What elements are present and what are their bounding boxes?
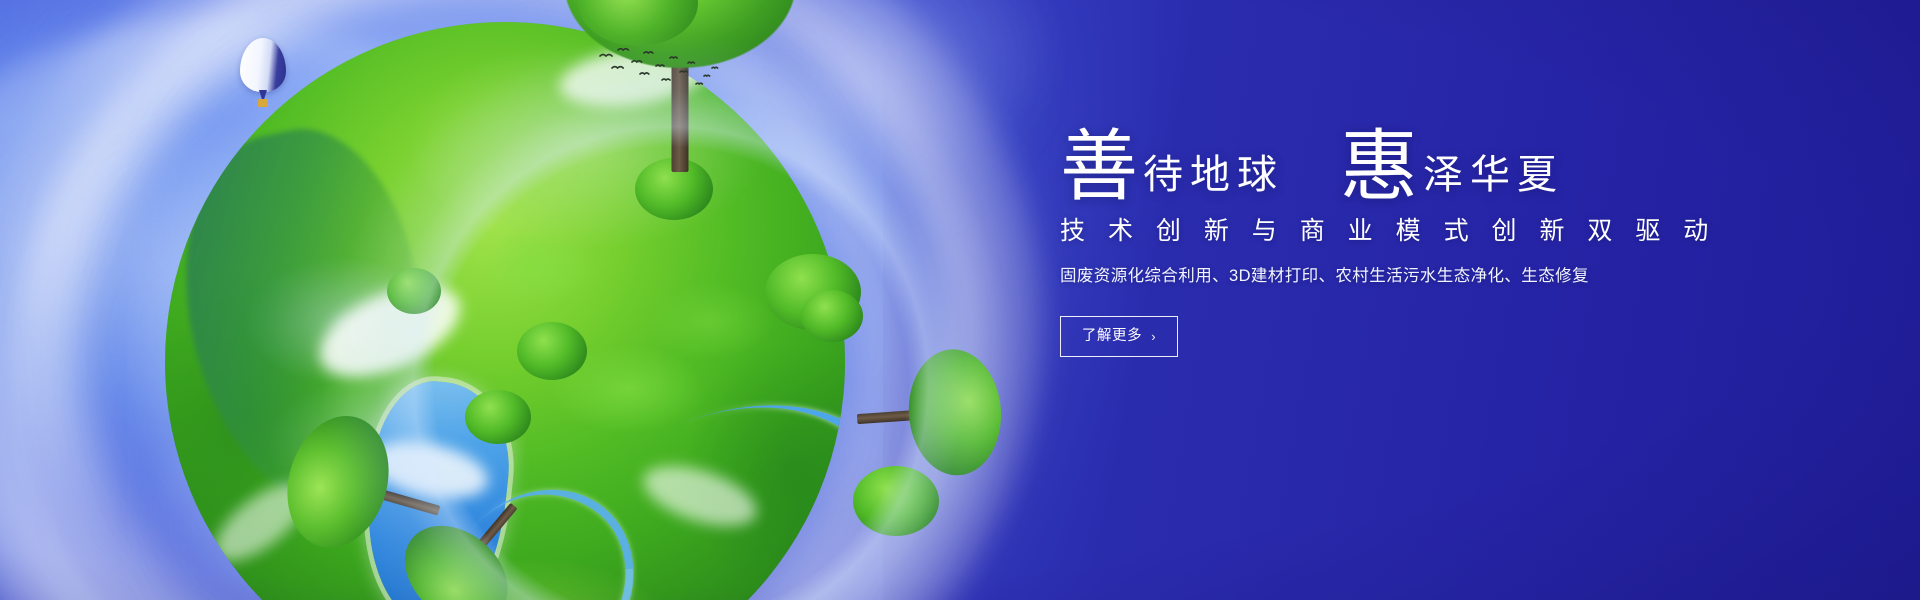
- bush-icon: [801, 290, 863, 342]
- birds-icon: [596, 46, 726, 94]
- hero-text-block: 善 待地球 惠 泽华夏 技 术 创 新 与 商 业 模 式 创 新 双 驱 动 …: [1060, 132, 1800, 357]
- bush-icon: [517, 322, 587, 380]
- learn-more-button[interactable]: 了解更多 ›: [1060, 316, 1178, 357]
- bush-icon: [465, 390, 531, 444]
- balloon-envelope: [240, 38, 286, 92]
- page-subtitle: 技 术 创 新 与 商 业 模 式 创 新 双 驱 动: [1060, 218, 1800, 246]
- page-title: 善 待地球 惠 泽华夏: [1060, 132, 1800, 204]
- headline-char-primary-2: 惠: [1340, 132, 1419, 204]
- headline-char-primary-1: 善: [1060, 132, 1139, 204]
- tree-crown: [905, 346, 1006, 478]
- hero-banner: 善 待地球 惠 泽华夏 技 术 创 新 与 商 业 模 式 创 新 双 驱 动 …: [0, 0, 1920, 600]
- headline-text-1: 待地球: [1143, 155, 1284, 204]
- chevron-right-icon: ›: [1151, 330, 1156, 343]
- tree-icon: [857, 343, 1006, 484]
- hot-air-balloon-icon: [240, 38, 286, 124]
- balloon-neck: [259, 90, 267, 99]
- page-description: 固废资源化综合利用、3D建材打印、农村生活污水生态净化、生态修复: [1060, 267, 1800, 287]
- balloon-basket: [258, 99, 268, 107]
- headline-text-2: 泽华夏: [1423, 155, 1564, 204]
- learn-more-label: 了解更多: [1082, 329, 1142, 344]
- bush-icon: [387, 268, 441, 314]
